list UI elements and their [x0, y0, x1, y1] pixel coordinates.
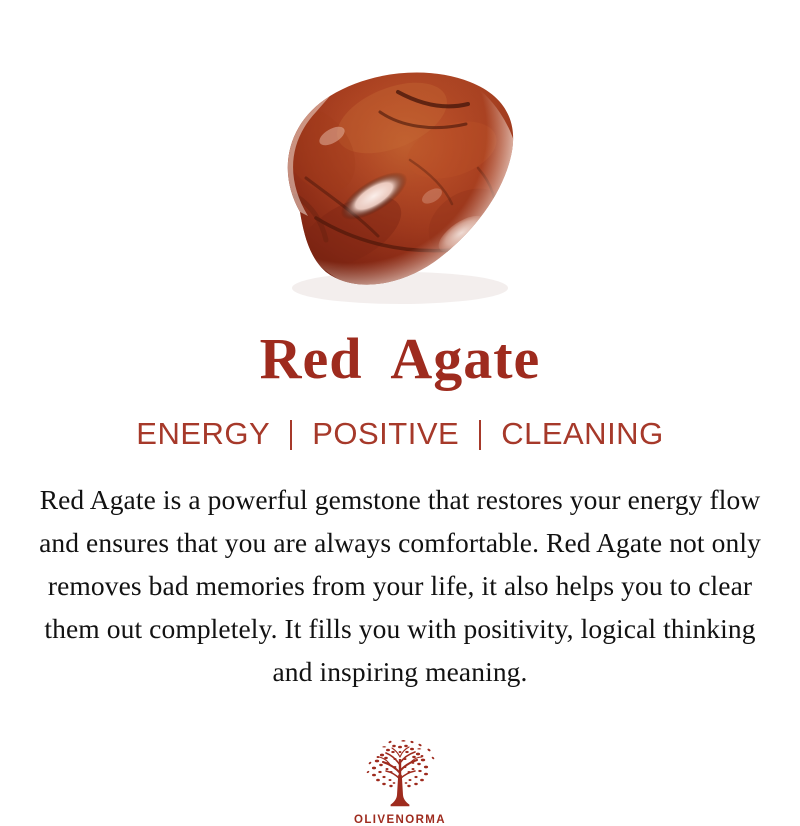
product-description: Red Agate is a powerful gemstone that re… [24, 478, 776, 693]
page-title: Red Agate [260, 330, 541, 388]
keyword-list: ENERGY POSITIVE CLEANING [136, 416, 663, 452]
keyword-energy: ENERGY [136, 416, 270, 452]
stone-body [265, 60, 540, 300]
product-info-card: Red Agate ENERGY POSITIVE CLEANING Red A… [0, 0, 800, 800]
red-agate-stone-illustration [0, 0, 800, 330]
brand-logo: OLIVENORMA [354, 739, 446, 826]
brand-name: OLIVENORMA [354, 814, 446, 826]
tree-of-life-icon [357, 739, 443, 813]
keyword-positive: POSITIVE [312, 416, 459, 452]
gemstone-image [0, 0, 800, 330]
keyword-separator-2 [479, 420, 481, 450]
keyword-cleaning: CLEANING [501, 416, 663, 452]
keyword-separator-1 [290, 420, 292, 450]
